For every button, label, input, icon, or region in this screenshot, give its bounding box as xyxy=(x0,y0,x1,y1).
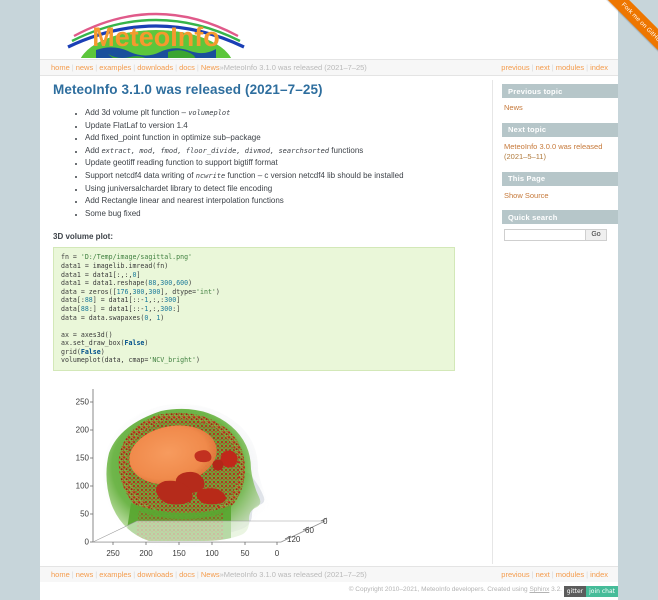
item-text-pre: Add xyxy=(85,146,101,155)
list-item: Using juniversalchardet library to detec… xyxy=(85,183,489,196)
y-tick-60: 60 xyxy=(305,526,314,535)
search-go-button[interactable]: Go xyxy=(586,229,607,241)
copyright-pre: © Copyright 2010–2021, MeteoInfo develop… xyxy=(349,586,530,593)
item-text-pre: Using juniversalchardet library to detec… xyxy=(85,184,272,193)
nav-link-next-bottom[interactable]: next xyxy=(536,570,550,579)
copyright-post: 3.2. xyxy=(549,586,562,593)
sidebar-divider xyxy=(492,80,493,564)
z-tick-100: 100 xyxy=(76,482,90,491)
nav-link-downloads-bottom[interactable]: downloads xyxy=(137,570,173,579)
nav-link-news-section[interactable]: News xyxy=(201,63,220,72)
list-item: Add fixed_point function in optimize sub… xyxy=(85,132,489,145)
gitter-badge-right: join chat xyxy=(586,586,618,597)
changelog-list: Add 3d volume plt function – volumeplot … xyxy=(65,107,489,220)
item-code: extract, mod, fmod, floor_divide, divmod… xyxy=(101,147,329,155)
bottom-navbar: home|news|examples|downloads|docs|News»M… xyxy=(40,566,618,583)
list-item: Add 3d volume plt function – volumeplot xyxy=(85,107,489,120)
nav-link-next[interactable]: next xyxy=(536,63,550,72)
y-tick-120: 120 xyxy=(287,535,301,544)
x-axis-ticks: 250 200 150 100 50 0 xyxy=(106,549,279,558)
site-footer: © Copyright 2010–2021, MeteoInfo develop… xyxy=(40,582,618,600)
item-text-pre: Add fixed_point function in optimize sub… xyxy=(85,133,261,142)
nav-link-modules-bottom[interactable]: modules xyxy=(556,570,584,579)
volume-plot-svg: 0 50 100 150 200 250 xyxy=(53,381,373,577)
left-gutter xyxy=(0,0,40,600)
page-root: MeteoInfo home|news|examples|downloads|d… xyxy=(0,0,658,600)
code-text: fn = 'D:/Temp/image/sagittal.png' data1 … xyxy=(61,253,447,365)
volume-plot-figure: 0 50 100 150 200 250 xyxy=(53,381,373,577)
list-item: Add Rectangle linear and nearest interpo… xyxy=(85,195,489,208)
github-ribbon[interactable]: Fork me on GitHub xyxy=(590,0,658,68)
nav-link-news[interactable]: news xyxy=(76,63,94,72)
nav-link-home-bottom[interactable]: home xyxy=(51,570,70,579)
sidebar-link-show-source[interactable]: Show Source xyxy=(504,191,549,200)
site-header: MeteoInfo xyxy=(40,0,618,58)
list-item: Update FlatLaf to version 1.4 xyxy=(85,120,489,133)
meteoinfo-logo-icon: MeteoInfo xyxy=(56,2,256,58)
sidebar: Previous topic News Next topic MeteoInfo… xyxy=(502,84,618,241)
item-text-post: functions xyxy=(329,146,363,155)
sidebar-header-previous-topic: Previous topic xyxy=(502,84,618,98)
item-text-pre: Update geotiff reading function to suppo… xyxy=(85,158,278,167)
list-item: Some bug fixed xyxy=(85,208,489,221)
logo-wordmark: MeteoInfo xyxy=(92,22,220,52)
x-tick-250: 250 xyxy=(106,549,120,558)
nav-link-examples[interactable]: examples xyxy=(99,63,131,72)
nav-right-group-bottom: previous|next|modules|index xyxy=(501,567,608,582)
search-input[interactable] xyxy=(504,229,586,241)
sidebar-link-next-topic-date: (2021–5–11) xyxy=(504,152,546,161)
nav-link-previous[interactable]: previous xyxy=(501,63,529,72)
z-tick-0: 0 xyxy=(85,538,90,547)
item-text-post: function – c version netcdf4 lib should … xyxy=(225,171,403,180)
plot-caption: 3D volume plot: xyxy=(53,232,489,241)
nav-link-previous-bottom[interactable]: previous xyxy=(501,570,529,579)
z-tick-150: 150 xyxy=(76,454,90,463)
code-block[interactable]: fn = 'D:/Temp/image/sagittal.png' data1 … xyxy=(53,247,455,371)
breadcrumb-current: MeteoInfo 3.1.0 was released (2021–7–25) xyxy=(224,63,367,72)
sidebar-link-previous-topic[interactable]: News xyxy=(504,103,523,112)
sidebar-header-quick-search: Quick search xyxy=(502,210,618,224)
x-tick-0: 0 xyxy=(275,549,280,558)
z-axis-ticks: 0 50 100 150 200 250 xyxy=(76,398,90,547)
list-item: Support netcdf4 data writing of ncwrite … xyxy=(85,170,489,183)
z-tick-250: 250 xyxy=(76,398,90,407)
page-title: MeteoInfo 3.1.0 was released (2021–7–25) xyxy=(53,82,489,97)
right-gutter xyxy=(618,0,658,600)
z-tick-200: 200 xyxy=(76,426,90,435)
sidebar-this-page-body: Show Source xyxy=(504,191,618,202)
gitter-badge-left: gitter xyxy=(564,586,586,597)
sphinx-link[interactable]: Sphinx xyxy=(529,586,549,593)
main-column: MeteoInfo 3.1.0 was released (2021–7–25)… xyxy=(53,82,489,577)
item-code: ncwrite xyxy=(196,172,226,180)
content-area: MeteoInfo 3.1.0 was released (2021–7–25)… xyxy=(40,76,618,564)
nav-left-group: home|news|examples|downloads|docs|News»M… xyxy=(51,60,367,75)
nav-link-docs-bottom[interactable]: docs xyxy=(179,570,195,579)
z-tick-50: 50 xyxy=(80,510,89,519)
sidebar-next-topic-body: MeteoInfo 3.0.0 was released (2021–5–11) xyxy=(504,142,618,163)
copyright-text: © Copyright 2010–2021, MeteoInfo develop… xyxy=(349,582,562,598)
item-text-pre: Support netcdf4 data writing of xyxy=(85,171,196,180)
nav-link-downloads[interactable]: downloads xyxy=(137,63,173,72)
nav-link-modules[interactable]: modules xyxy=(556,63,584,72)
list-item: Update geotiff reading function to suppo… xyxy=(85,157,489,170)
item-text-pre: Update FlatLaf to version 1.4 xyxy=(85,121,188,130)
item-code: volumeplot xyxy=(188,109,230,117)
nav-link-home[interactable]: home xyxy=(51,63,70,72)
list-item: Add extract, mod, fmod, floor_divide, di… xyxy=(85,145,489,158)
nav-link-news-bottom[interactable]: news xyxy=(76,570,94,579)
nav-link-index-bottom[interactable]: index xyxy=(590,570,608,579)
sidebar-previous-topic-body: News xyxy=(504,103,618,114)
nav-link-news-section-bottom[interactable]: News xyxy=(201,570,220,579)
item-text-pre: Add 3d volume plt function – xyxy=(85,108,188,117)
nav-left-group-bottom: home|news|examples|downloads|docs|News»M… xyxy=(51,567,367,582)
breadcrumb-current-bottom: MeteoInfo 3.1.0 was released (2021–7–25) xyxy=(224,570,367,579)
item-text-pre: Add Rectangle linear and nearest interpo… xyxy=(85,196,284,205)
top-navbar: home|news|examples|downloads|docs|News»M… xyxy=(40,59,618,76)
x-tick-200: 200 xyxy=(139,549,153,558)
gitter-badge[interactable]: gitter join chat xyxy=(564,586,618,597)
x-tick-50: 50 xyxy=(241,549,250,558)
x-tick-100: 100 xyxy=(205,549,219,558)
x-tick-150: 150 xyxy=(172,549,186,558)
nav-link-examples-bottom[interactable]: examples xyxy=(99,570,131,579)
sidebar-header-this-page: This Page xyxy=(502,172,618,186)
item-text-pre: Some bug fixed xyxy=(85,209,141,218)
sidebar-link-next-topic[interactable]: MeteoInfo 3.0.0 was released xyxy=(504,142,602,151)
nav-link-docs[interactable]: docs xyxy=(179,63,195,72)
site-logo[interactable]: MeteoInfo xyxy=(56,2,256,58)
sidebar-header-next-topic: Next topic xyxy=(502,123,618,137)
quick-search-form: Go xyxy=(504,229,618,241)
github-ribbon-label: Fork me on GitHub xyxy=(600,0,658,66)
